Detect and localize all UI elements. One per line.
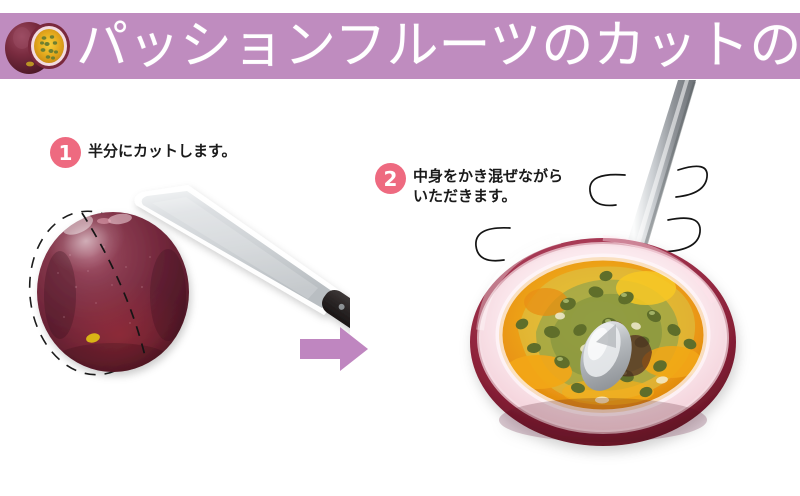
whole-passion-fruit bbox=[37, 199, 190, 390]
page-title: パッションフルーツのカットの仕方 bbox=[76, 12, 800, 80]
step-1-caption: 半分にカットします。 bbox=[88, 141, 237, 161]
step-1-illustration bbox=[0, 175, 350, 405]
step-2-badge: 2 bbox=[375, 163, 406, 194]
step-1-badge: 1 bbox=[50, 137, 81, 168]
right-arrow-icon bbox=[300, 325, 368, 373]
header-passion-fruit-icon bbox=[0, 8, 72, 80]
step-2-illustration bbox=[410, 80, 800, 480]
illustration-canvas: パッションフルーツのカットの仕方 1 半分にカットします。 bbox=[0, 0, 800, 496]
